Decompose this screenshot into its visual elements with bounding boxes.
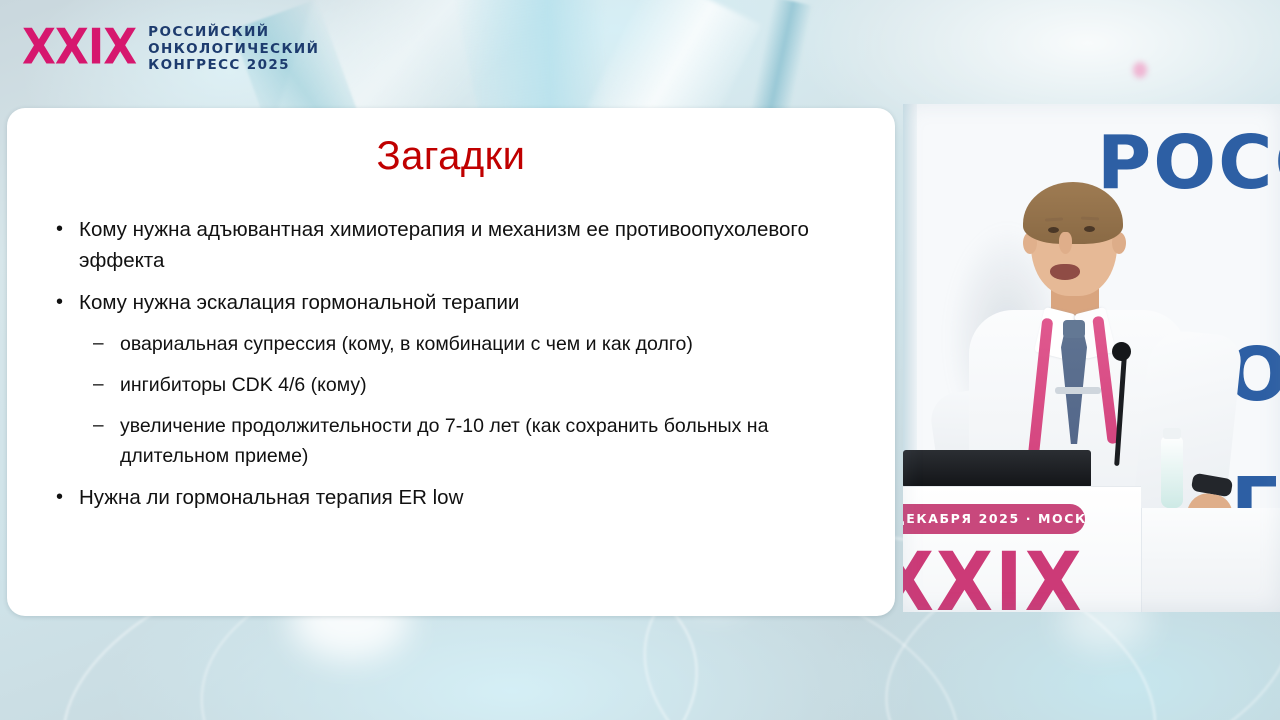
sub-bullet-list: – овариальная супрессия (кому, в комбина… (93, 329, 855, 471)
logo-text-lines: РОССИЙСКИЙ ОНКОЛОГИЧЕСКИЙ КОНГРЕСС 2025 (148, 24, 319, 73)
dash-marker: – (93, 329, 120, 359)
water-bottle-cap (1163, 428, 1181, 439)
sub-bullet-item: – овариальная супрессия (кому, в комбина… (93, 329, 855, 359)
sub-bullet-item: – ингибиторы CDK 4/6 (кому) (93, 370, 855, 400)
speaker-eye-right (1084, 226, 1095, 232)
laptop (903, 450, 1091, 488)
speaker-mouth (1050, 264, 1080, 280)
speaker-nose (1059, 232, 1072, 254)
bullet-marker: • (47, 482, 79, 513)
podium-side (1141, 508, 1280, 612)
backdrop-text-line-1: РОСС (1097, 132, 1280, 196)
bullet-item: • Кому нужна адъювантная химиотерапия и … (47, 214, 855, 276)
logo-roman-numeral: XXIX (22, 24, 136, 73)
sub-bullet-item: – увеличение продолжительности до 7-10 л… (93, 411, 855, 471)
bullet-item: • Нужна ли гормональная терапия ER low (47, 482, 855, 513)
sub-bullet-text: увеличение продолжительности до 7-10 лет… (120, 411, 855, 471)
dash-marker: – (93, 370, 120, 400)
congress-logo: XXIX РОССИЙСКИЙ ОНКОЛОГИЧЕСКИЙ КОНГРЕСС … (22, 24, 319, 73)
bullet-text: Нужна ли гормональная терапия ER low (79, 482, 855, 513)
logo-line-3: КОНГРЕСС 2025 (148, 59, 319, 73)
slide-title: Загадки (7, 134, 895, 179)
decorative-dot-pink (1133, 62, 1147, 78)
bullet-item: • Кому нужна эскалация гормональной тера… (47, 287, 855, 318)
badge-clip (1055, 387, 1101, 394)
sub-bullet-text: ингибиторы CDK 4/6 (кому) (120, 370, 855, 400)
slide-bullet-list: • Кому нужна адъювантная химиотерапия и … (47, 214, 855, 524)
sub-bullet-text: овариальная супрессия (кому, в комбинаци… (120, 329, 855, 359)
water-bottle (1161, 436, 1183, 508)
podium-date-badge: 13 ДЕКАБРЯ 2025 · МОСКВА (903, 504, 1085, 534)
bullet-text: Кому нужна адъювантная химиотерапия и ме… (79, 214, 855, 276)
dash-marker: – (93, 411, 120, 471)
bullet-marker: • (47, 287, 79, 318)
bullet-marker: • (47, 214, 79, 276)
microphone-icon (1112, 342, 1131, 361)
bullet-text: Кому нужна эскалация гормональной терапи… (79, 287, 855, 318)
necktie-knot (1063, 320, 1085, 338)
logo-line-2: ОНКОЛОГИЧЕСКИЙ (148, 43, 319, 57)
logo-line-1: РОССИЙСКИЙ (148, 26, 319, 40)
speaker-eye-left (1048, 227, 1059, 233)
podium-roman-numeral: XXIX (903, 542, 1107, 612)
speaker-video-panel: РОСС НКО НГ 13 ДЕКАБРЯ 2025 · МОСКВА XXI… (903, 104, 1280, 612)
presentation-slide: Загадки • Кому нужна адъювантная химиоте… (7, 108, 895, 616)
